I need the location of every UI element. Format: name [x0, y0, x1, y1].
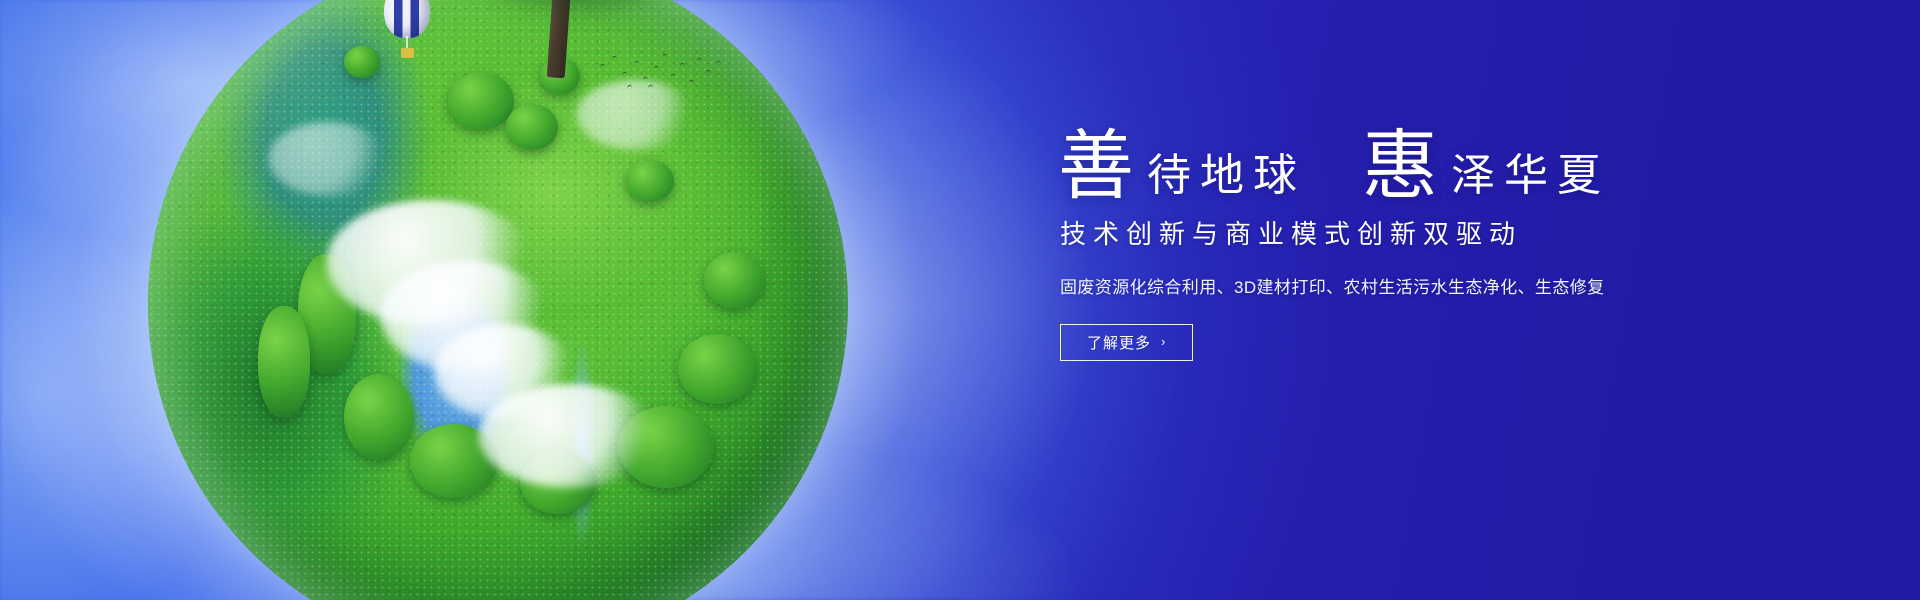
- bird-icon: [627, 85, 633, 90]
- hero-banner: 善 待地球 惠 泽华夏 技术创新与商业模式创新双驱动 固废资源化综合利用、3D建…: [0, 0, 1920, 600]
- bird-icon: [612, 56, 618, 61]
- headline: 善 待地球 惠 泽华夏: [1058, 128, 1758, 204]
- tree-clump: [704, 252, 764, 308]
- balloon-envelope: [384, 0, 430, 38]
- tree-clump: [344, 374, 414, 460]
- tree-clump: [258, 306, 310, 418]
- bird-icon: [716, 61, 722, 66]
- headline-part2-big: 惠: [1362, 128, 1439, 204]
- green-planet: [148, 0, 848, 600]
- subheadline: 技术创新与商业模式创新双驱动: [1060, 214, 1758, 251]
- hot-air-balloon: [384, 0, 430, 68]
- planet-scene: [148, 0, 848, 600]
- tree-clump: [626, 160, 674, 202]
- tree-clump: [506, 104, 558, 150]
- headline-part1-big: 善: [1058, 128, 1135, 204]
- headline-part1-small: 待地球: [1135, 154, 1306, 204]
- tree-clump: [678, 334, 756, 404]
- bird-icon: [706, 70, 712, 75]
- chevron-right-icon: ›: [1161, 334, 1166, 349]
- description: 固废资源化综合利用、3D建材打印、农村生活污水生态净化、生态修复: [1060, 273, 1758, 298]
- hero-copy: 善 待地球 惠 泽华夏 技术创新与商业模式创新双驱动 固废资源化综合利用、3D建…: [1058, 128, 1758, 361]
- bird-icon: [622, 72, 628, 77]
- balloon-basket: [401, 48, 414, 58]
- bird-icon: [670, 74, 676, 79]
- bird-icon: [680, 63, 686, 68]
- tree-clump: [448, 72, 514, 130]
- bird-icon: [643, 77, 649, 82]
- bird-icon: [662, 54, 668, 59]
- tree-clump: [344, 46, 380, 78]
- bird-icon: [697, 58, 703, 63]
- headline-part2-small: 泽华夏: [1439, 154, 1610, 204]
- bird-icon: [654, 66, 660, 71]
- cloud: [268, 122, 388, 196]
- bird-icon: [648, 85, 654, 90]
- cloud: [478, 384, 660, 488]
- learn-more-label: 了解更多: [1087, 332, 1151, 353]
- learn-more-button[interactable]: 了解更多 ›: [1060, 324, 1193, 361]
- bird-icon: [689, 80, 695, 85]
- bird-icon: [600, 64, 606, 69]
- bird-flock: [596, 52, 726, 92]
- bird-icon: [634, 61, 640, 66]
- tree-trunk: [547, 0, 574, 78]
